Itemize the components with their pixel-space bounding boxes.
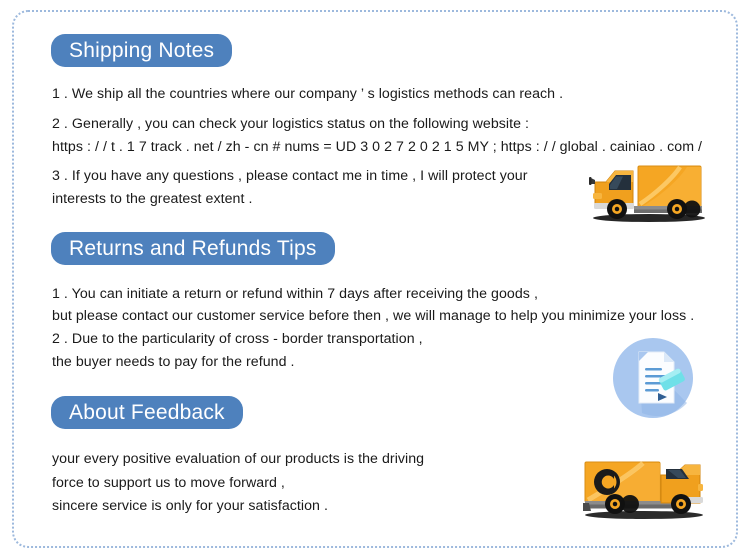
feedback-line-3: sincere service is only for your satisfa… — [52, 497, 328, 516]
shipping-note-line-3: 3 . If you have any questions , please c… — [52, 167, 528, 186]
shipping-note-line-3b: interests to the greatest extent . — [52, 190, 252, 209]
feedback-line-1: your every positive evaluation of our pr… — [52, 450, 424, 469]
delivery-truck-left-icon — [584, 162, 706, 229]
heading-returns-and-refunds: Returns and Refunds Tips — [51, 232, 335, 265]
refund-document-icon — [612, 337, 694, 424]
refund-line-2: 2 . Due to the particularity of cross - … — [52, 330, 423, 349]
heading-about-feedback: About Feedback — [51, 396, 243, 429]
refund-line-1: 1 . You can initiate a return or refund … — [52, 285, 538, 304]
shipping-note-line-1: 1 . We ship all the countries where our … — [52, 85, 563, 104]
feedback-line-2: force to support us to move forward , — [52, 474, 285, 493]
flyer-page: Shipping Notes 1 . We ship all the count… — [0, 0, 750, 558]
shipping-note-tracking-url: https : / / t . 1 7 track . net / zh - c… — [52, 138, 702, 157]
shipping-note-line-2: 2 . Generally , you can check your logis… — [52, 115, 529, 134]
refund-line-2b: the buyer needs to pay for the refund . — [52, 353, 295, 372]
refund-line-1b: but please contact our customer service … — [52, 307, 694, 326]
cargo-truck-right-icon — [578, 455, 708, 526]
heading-shipping-notes: Shipping Notes — [51, 34, 232, 67]
